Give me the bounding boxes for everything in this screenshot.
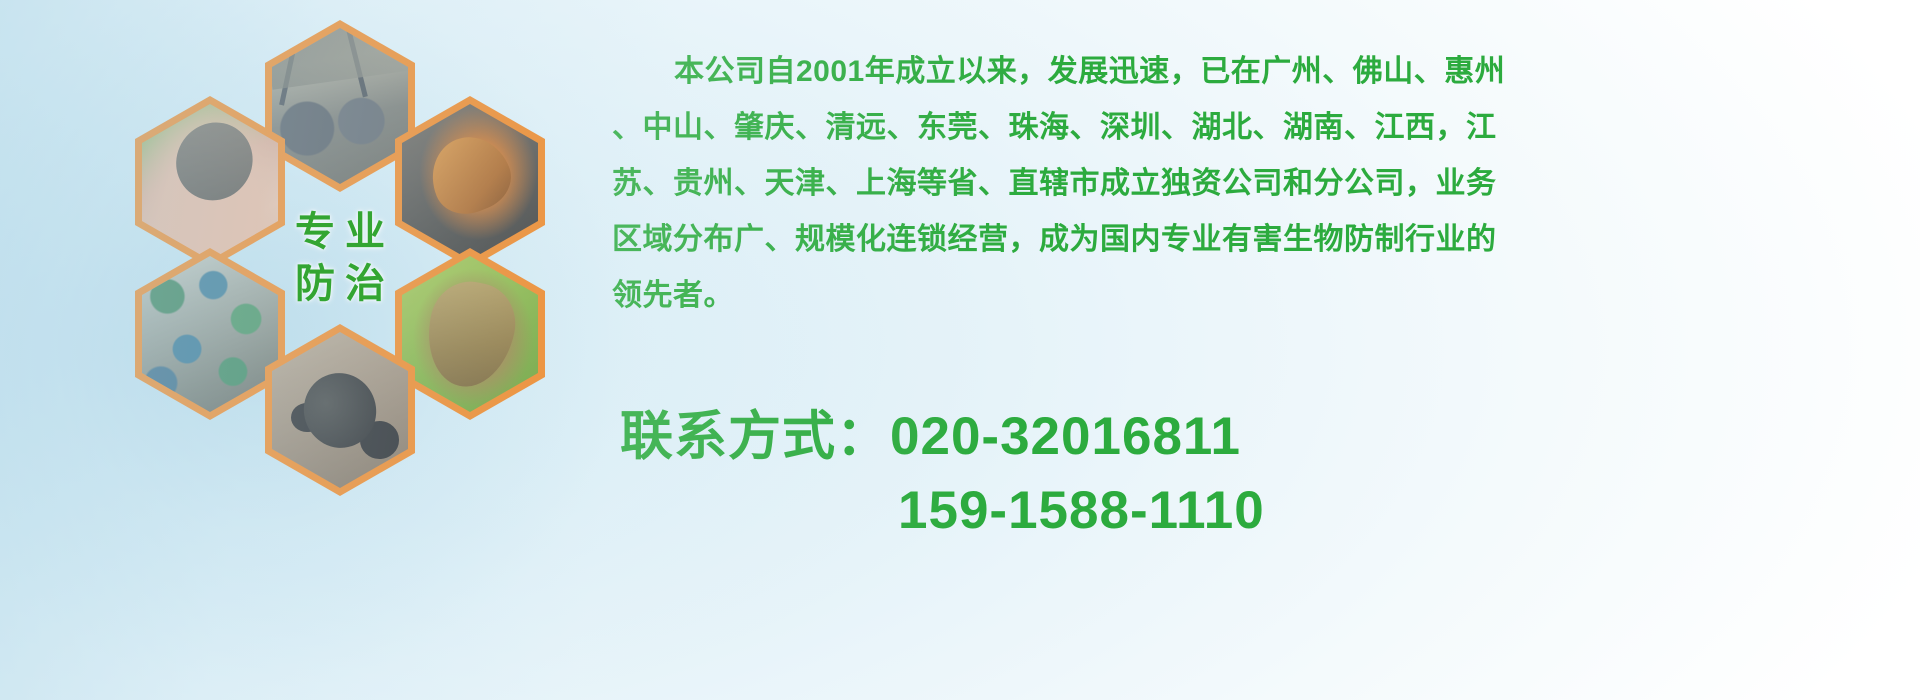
contact-primary-phone[interactable]: 联系方式：020-32016811 xyxy=(620,400,1910,474)
hex-inner-mosquito xyxy=(142,104,278,260)
hex-image-mosquito[interactable] xyxy=(135,96,285,268)
hex-image-ant[interactable] xyxy=(265,324,415,496)
banner-background: 专业 防治 本公司自2001年成立以来，发展迅速，已在广州、佛山、惠州 、中山、… xyxy=(0,0,1920,700)
hex-inner-stinkbug xyxy=(402,256,538,412)
hex-image-flies[interactable] xyxy=(135,248,285,420)
hex-inner-ant xyxy=(272,332,408,488)
hex-image-rats[interactable] xyxy=(265,20,415,192)
hex-inner-cockroach xyxy=(402,104,538,260)
hex-inner-rats xyxy=(272,28,408,184)
rats-photo xyxy=(272,28,408,184)
badge-line-2: 防治 xyxy=(285,264,395,304)
cockroach-photo xyxy=(402,104,538,260)
description-line-3: 苏、贵州、天津、上海等省、直辖市成立独资公司和分公司，业务 xyxy=(612,156,1912,212)
hex-image-stinkbug[interactable] xyxy=(395,248,545,420)
description-line-4: 区域分布广、规模化连锁经营，成为国内专业有害生物防制行业的 xyxy=(612,212,1912,268)
description-line-1: 本公司自2001年成立以来，发展迅速，已在广州、佛山、惠州 xyxy=(612,44,1912,100)
hexagon-image-cluster: 专业 防治 xyxy=(90,10,590,560)
hex-inner-flies xyxy=(142,256,278,412)
description-line-2: 、中山、肇庆、清远、东莞、珠海、深圳、湖北、湖南、江西，江 xyxy=(612,100,1912,156)
description-line-5: 领先者。 xyxy=(612,268,1912,324)
ant-photo xyxy=(272,332,408,488)
hex-image-cockroach[interactable] xyxy=(395,96,545,268)
stink-bug-photo xyxy=(402,256,538,412)
contact-block: 联系方式：020-32016811 159-1588-1110 xyxy=(620,400,1910,548)
mosquito-photo xyxy=(142,104,278,260)
badge-line-1: 专业 xyxy=(285,212,395,252)
contact-secondary-phone[interactable]: 159-1588-1110 xyxy=(620,474,1910,548)
company-description: 本公司自2001年成立以来，发展迅速，已在广州、佛山、惠州 、中山、肇庆、清远、… xyxy=(612,44,1912,324)
flies-photo xyxy=(142,256,278,412)
hex-center-badge: 专业 防治 xyxy=(265,172,415,344)
